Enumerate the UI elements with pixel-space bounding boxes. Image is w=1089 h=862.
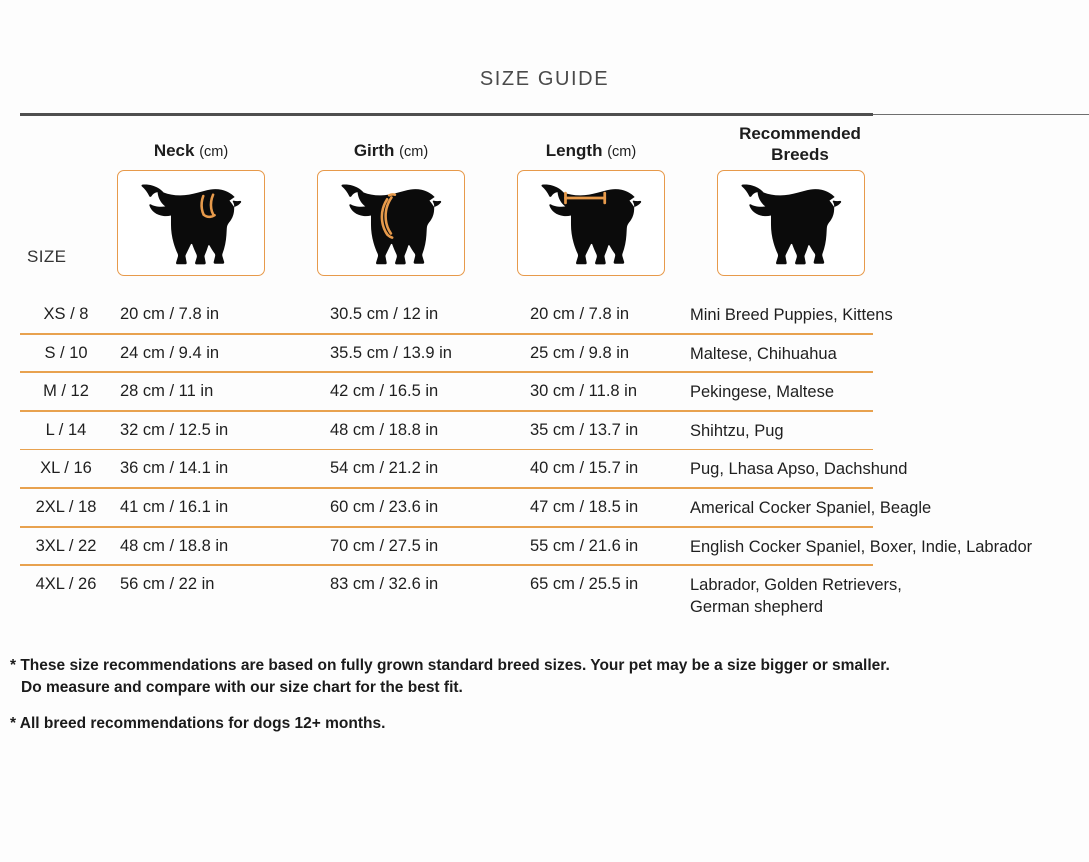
cell-breeds: Pug, Lhasa Apso, Dachshund: [690, 459, 1085, 481]
cell-breeds: Mini Breed Puppies, Kittens: [690, 305, 1085, 327]
cell-length: 40 cm / 15.7 in: [530, 459, 705, 478]
column-header-breeds-label2: Breeds: [771, 145, 829, 164]
footnotes: * These size recommendations are based o…: [10, 655, 1010, 749]
cell-length: 47 cm / 18.5 in: [530, 498, 705, 517]
cell-length: 35 cm / 13.7 in: [530, 421, 705, 440]
column-header-length: Length (cm): [516, 141, 666, 162]
cell-neck: 20 cm / 7.8 in: [120, 305, 295, 324]
cell-girth: 83 cm / 32.6 in: [330, 575, 515, 594]
cell-neck: 56 cm / 22 in: [120, 575, 295, 594]
table-row: 2XL / 18 41 cm / 16.1 in 60 cm / 23.6 in…: [0, 489, 1089, 528]
column-header-girth-label: Girth: [354, 141, 395, 160]
cell-girth: 35.5 cm / 13.9 in: [330, 344, 515, 363]
cell-neck: 36 cm / 14.1 in: [120, 459, 295, 478]
cell-size: S / 10: [20, 344, 112, 363]
column-header-girth-unit: (cm): [399, 144, 428, 160]
cell-girth: 42 cm / 16.5 in: [330, 382, 515, 401]
cell-neck: 24 cm / 9.4 in: [120, 344, 295, 363]
table-row: 3XL / 22 48 cm / 18.8 in 70 cm / 27.5 in…: [0, 528, 1089, 567]
column-header-girth: Girth (cm): [316, 141, 466, 162]
cell-size: 3XL / 22: [20, 537, 112, 556]
footnote-1-line1: * These size recommendations are based o…: [10, 657, 890, 674]
cell-breeds: Shihtzu, Pug: [690, 421, 1085, 443]
column-header-neck-label: Neck: [154, 141, 195, 160]
cell-size: 2XL / 18: [20, 498, 112, 517]
cell-size: M / 12: [20, 382, 112, 401]
table-row: 4XL / 26 56 cm / 22 in 83 cm / 32.6 in 6…: [0, 566, 1089, 612]
column-header-breeds: Recommended Breeds: [714, 124, 886, 165]
table-row: M / 12 28 cm / 11 in 42 cm / 16.5 in 30 …: [0, 373, 1089, 412]
column-header-neck: Neck (cm): [116, 141, 266, 162]
cell-length: 30 cm / 11.8 in: [530, 382, 705, 401]
cell-size: 4XL / 26: [20, 575, 112, 594]
cell-neck: 32 cm / 12.5 in: [120, 421, 295, 440]
cell-breeds: Maltese, Chihuahua: [690, 344, 1085, 366]
footnote-1: * These size recommendations are based o…: [10, 655, 1010, 699]
footnote-1-line2: Do measure and compare with our size cha…: [10, 677, 1010, 699]
cell-neck: 41 cm / 16.1 in: [120, 498, 295, 517]
cell-breeds: Americal Cocker Spaniel, Beagle: [690, 498, 1085, 520]
dog-neck-measure-icon: [117, 170, 265, 276]
cell-girth: 60 cm / 23.6 in: [330, 498, 515, 517]
cell-girth: 54 cm / 21.2 in: [330, 459, 515, 478]
table-row: L / 14 32 cm / 12.5 in 48 cm / 18.8 in 3…: [0, 412, 1089, 451]
dog-girth-measure-icon: [317, 170, 465, 276]
cell-neck: 28 cm / 11 in: [120, 382, 295, 401]
dog-length-measure-icon: [517, 170, 665, 276]
cell-breeds: Labrador, Golden Retrievers, German shep…: [690, 575, 935, 619]
cell-girth: 30.5 cm / 12 in: [330, 305, 515, 324]
size-guide-page: SIZE GUIDE Neck (cm) Girth (cm) Length (…: [0, 0, 1089, 862]
table-row: XS / 8 20 cm / 7.8 in 30.5 cm / 12 in 20…: [0, 296, 1089, 335]
table-row: XL / 16 36 cm / 14.1 in 54 cm / 21.2 in …: [0, 450, 1089, 489]
cell-girth: 48 cm / 18.8 in: [330, 421, 515, 440]
column-header-length-unit: (cm): [607, 144, 636, 160]
cell-size: XL / 16: [20, 459, 112, 478]
column-header-length-label: Length: [546, 141, 603, 160]
size-table: XS / 8 20 cm / 7.8 in 30.5 cm / 12 in 20…: [0, 296, 1089, 612]
size-column-label: SIZE: [27, 247, 66, 267]
column-header-neck-unit: (cm): [199, 144, 228, 160]
cell-breeds: Pekingese, Maltese: [690, 382, 1085, 404]
table-row: S / 10 24 cm / 9.4 in 35.5 cm / 13.9 in …: [0, 335, 1089, 374]
cell-size: XS / 8: [20, 305, 112, 324]
header-rule-thin: [873, 114, 1089, 115]
cell-girth: 70 cm / 27.5 in: [330, 537, 515, 556]
dog-silhouette-icon: [717, 170, 865, 276]
cell-length: 20 cm / 7.8 in: [530, 305, 705, 324]
cell-length: 65 cm / 25.5 in: [530, 575, 705, 594]
cell-length: 55 cm / 21.6 in: [530, 537, 705, 556]
cell-size: L / 14: [20, 421, 112, 440]
footnote-2: * All breed recommendations for dogs 12+…: [10, 713, 1010, 735]
cell-length: 25 cm / 9.8 in: [530, 344, 705, 363]
cell-neck: 48 cm / 18.8 in: [120, 537, 295, 556]
header-rule-thick: [20, 113, 873, 116]
page-title: SIZE GUIDE: [0, 68, 1089, 91]
column-header-breeds-label: Recommended: [739, 124, 861, 143]
cell-breeds: English Cocker Spaniel, Boxer, Indie, La…: [690, 537, 1085, 559]
